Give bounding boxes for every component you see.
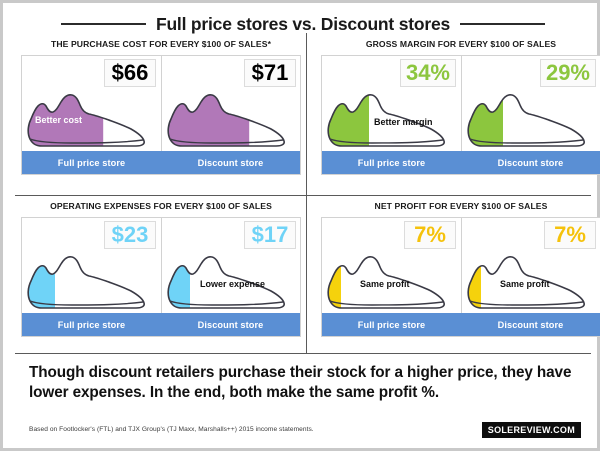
- label-discount-store: Discount store: [461, 151, 600, 174]
- panel-card: $23: [21, 217, 301, 337]
- shoe-graphic: [164, 251, 299, 313]
- store-label-bar: Full price store Discount store: [22, 151, 300, 174]
- divider-horizontal-middle: [15, 195, 591, 196]
- value-badge: 34%: [400, 59, 456, 87]
- label-discount-store: Discount store: [161, 313, 300, 336]
- value-text: $71: [252, 62, 289, 84]
- value-badge: 7%: [544, 221, 596, 249]
- solereview-logo: SOLEREVIEW.COM: [482, 422, 581, 438]
- value-text: 29%: [546, 62, 590, 84]
- value-text: $23: [112, 224, 149, 246]
- label-full-price-store: Full price store: [322, 151, 461, 174]
- panel-heading: NET PROFIT FOR EVERY $100 OF SALES: [321, 201, 600, 211]
- series-full-price-store: 34% Better margin: [322, 56, 461, 151]
- divider-horizontal-bottom: [15, 353, 591, 354]
- page-title-text: Full price stores vs. Discount stores: [156, 14, 450, 35]
- panel-purchase-cost: THE PURCHASE COST FOR EVERY $100 OF SALE…: [21, 39, 301, 175]
- shoe-graphic: [24, 251, 159, 313]
- divider-vertical-top: [306, 33, 307, 195]
- panel-gross-margin: GROSS MARGIN FOR EVERY $100 OF SALES 34%: [321, 39, 600, 175]
- label-full-price-store: Full price store: [22, 151, 161, 174]
- store-label-bar: Full price store Discount store: [22, 313, 300, 336]
- value-badge: 29%: [540, 59, 596, 87]
- value-text: 34%: [406, 62, 450, 84]
- series-full-price-store: $66 Better cost: [22, 56, 161, 151]
- label-full-price-store: Full price store: [22, 313, 161, 336]
- series-full-price-store: 7% Same profit: [322, 218, 461, 313]
- panel-net-profit: NET PROFIT FOR EVERY $100 OF SALES 7%: [321, 201, 600, 337]
- label-discount-store: Discount store: [161, 151, 300, 174]
- value-badge: 7%: [404, 221, 456, 249]
- store-label-bar: Full price store Discount store: [322, 313, 600, 336]
- series-discount-store: $17 Lower expense: [162, 218, 301, 313]
- panel-heading: THE PURCHASE COST FOR EVERY $100 OF SALE…: [21, 39, 301, 49]
- infographic-frame: Full price stores vs. Discount stores TH…: [0, 0, 600, 451]
- shoe-graphic: [164, 89, 299, 151]
- divider-vertical-bottom: [306, 195, 307, 353]
- shoe-graphic: [464, 251, 599, 313]
- panel-operating-expenses: OPERATING EXPENSES FOR EVERY $100 OF SAL…: [21, 201, 301, 337]
- value-badge: $66: [104, 59, 156, 87]
- title-rule-left-icon: [61, 23, 146, 25]
- series-discount-store: 7% Same profit: [462, 218, 600, 313]
- page-title: Full price stores vs. Discount stores: [3, 11, 600, 37]
- shoe-graphic: [324, 89, 459, 151]
- value-badge: $23: [104, 221, 156, 249]
- store-label-bar: Full price store Discount store: [322, 151, 600, 174]
- value-text: $17: [252, 224, 289, 246]
- value-text: 7%: [554, 224, 586, 246]
- panel-heading: GROSS MARGIN FOR EVERY $100 OF SALES: [321, 39, 600, 49]
- footnote-text: Based on Footlocker's (FTL) and TJX Grou…: [29, 426, 314, 433]
- series-full-price-store: $23: [22, 218, 161, 313]
- label-full-price-store: Full price store: [322, 313, 461, 336]
- value-badge: $17: [244, 221, 296, 249]
- label-discount-store: Discount store: [461, 313, 600, 336]
- value-text: $66: [112, 62, 149, 84]
- series-discount-store: $71: [162, 56, 301, 151]
- shoe-graphic: [24, 89, 159, 151]
- conclusion-text: Though discount retailers purchase their…: [29, 363, 581, 404]
- panel-card: 34% Better margin: [321, 55, 600, 175]
- series-discount-store: 29%: [462, 56, 600, 151]
- title-rule-right-icon: [460, 23, 545, 25]
- panel-heading: OPERATING EXPENSES FOR EVERY $100 OF SAL…: [21, 201, 301, 211]
- value-badge: $71: [244, 59, 296, 87]
- panel-card: $66 Better cost: [21, 55, 301, 175]
- value-text: 7%: [414, 224, 446, 246]
- shoe-graphic: [324, 251, 459, 313]
- shoe-graphic: [464, 89, 599, 151]
- panel-card: 7% Same profit: [321, 217, 600, 337]
